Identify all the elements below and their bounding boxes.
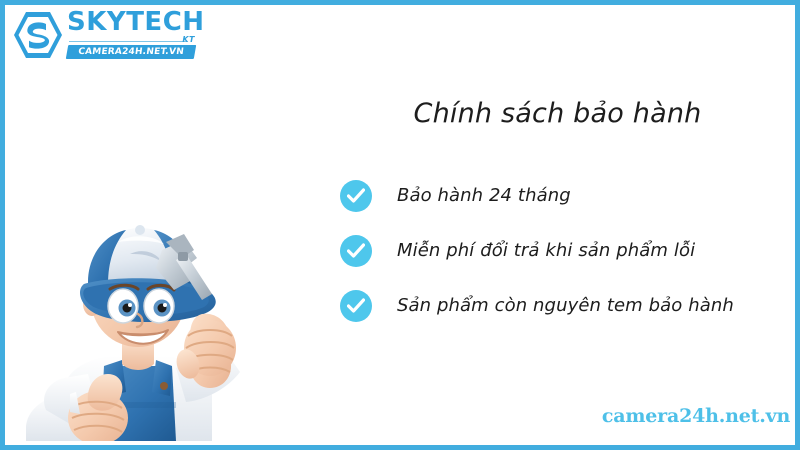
check-circle-icon (340, 180, 372, 212)
logo-site-banner-text: CAMERA24H.NET.VN (66, 45, 196, 59)
list-item: Sản phẩm còn nguyên tem bảo hành (340, 278, 790, 333)
promo-banner: SKYTECH KT CAMERA24H.NET.VN (0, 0, 800, 450)
list-item-label: Miễn phí đổi trả khi sản phẩm lỗi (397, 240, 695, 261)
logo-site-banner: CAMERA24H.NET.VN (66, 45, 196, 59)
list-item: Miễn phí đổi trả khi sản phẩm lỗi (340, 223, 790, 278)
check-circle-icon (340, 290, 372, 322)
skytech-hexagon-s-logo-icon (12, 10, 64, 60)
logo-brand-suffix: KT (182, 35, 195, 44)
list-item-label: Sản phẩm còn nguyên tem bảo hành (397, 295, 734, 316)
warranty-feature-list: Bảo hành 24 tháng Miễn phí đổi trả khi s… (340, 168, 790, 333)
list-item-label: Bảo hành 24 tháng (397, 185, 571, 206)
site-watermark: camera24h.net.vn (600, 405, 792, 427)
check-circle-icon (340, 235, 372, 267)
list-item: Bảo hành 24 tháng (340, 168, 790, 223)
technician-mascot-illustration (26, 196, 256, 441)
logo-divider (69, 41, 187, 42)
page-title: Chính sách bảo hành (330, 98, 785, 129)
brand-logo[interactable]: SKYTECH KT CAMERA24H.NET.VN (12, 6, 197, 64)
logo-text-group: SKYTECH KT CAMERA24H.NET.VN (67, 8, 197, 36)
logo-brand-text: SKYTECH (67, 8, 197, 36)
